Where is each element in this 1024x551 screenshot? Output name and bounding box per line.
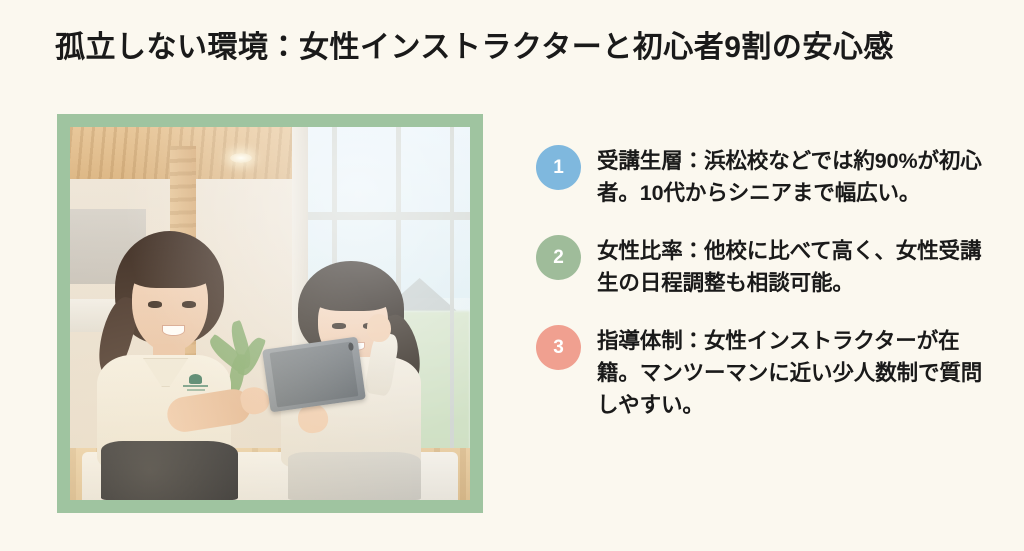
list-item: 1 受講生層：浜松校などでは約90%が初心者。10代からシニアまで幅広い。 [536,145,988,209]
instructor-figure [90,231,266,500]
student-bangs [312,278,393,311]
page-title: 孤立しない環境：女性インストラクターと初心者9割の安心感 [55,28,985,69]
instructor-bangs [127,248,213,288]
tablet-camera-icon [348,343,354,351]
bullet-badge-3: 3 [536,325,581,370]
instructor-eye [148,301,162,308]
bullet-badge-1: 1 [536,145,581,190]
student-legs [288,452,422,500]
student-eye [332,323,346,329]
list-item: 2 女性比率：他校に比べて高く、女性受講生の日程調整も相談可能。 [536,235,988,299]
photo-scene [70,127,470,500]
bullet-text-3: 指導体制：女性インストラクターが在籍。マンツーマンに近い少人数制で質問しやすい。 [597,325,988,421]
bullet-badge-2: 2 [536,235,581,280]
tablet-screen [269,342,358,407]
list-item: 3 指導体制：女性インストラクターが在籍。マンツーマンに近い少人数制で質問しやす… [536,325,988,421]
window-mullion [302,212,470,219]
photo-image [70,127,470,500]
instructor-legs [101,441,238,500]
logo-text-line [183,385,208,388]
window-mullion [450,127,454,455]
bullet-list: 1 受講生層：浜松校などでは約90%が初心者。10代からシニアまで幅広い。 2 … [536,145,988,421]
student-hand [367,314,392,343]
bullet-text-2: 女性比率：他校に比べて高く、女性受講生の日程調整も相談可能。 [597,235,988,299]
polo-logo-emblem [182,374,210,395]
photo-frame [57,114,483,513]
bullet-text-1: 受講生層：浜松校などでは約90%が初心者。10代からシニアまで幅広い。 [597,145,988,209]
logo-mark [189,374,203,384]
bullet-number: 3 [553,338,564,357]
bullet-number: 1 [553,158,564,177]
bullet-number: 2 [553,248,564,267]
instructor-eye [182,301,196,308]
slide-root: { "slide": { "title": "孤立しない環境：女性インストラクタ… [0,0,1024,551]
logo-text-line [187,389,205,391]
